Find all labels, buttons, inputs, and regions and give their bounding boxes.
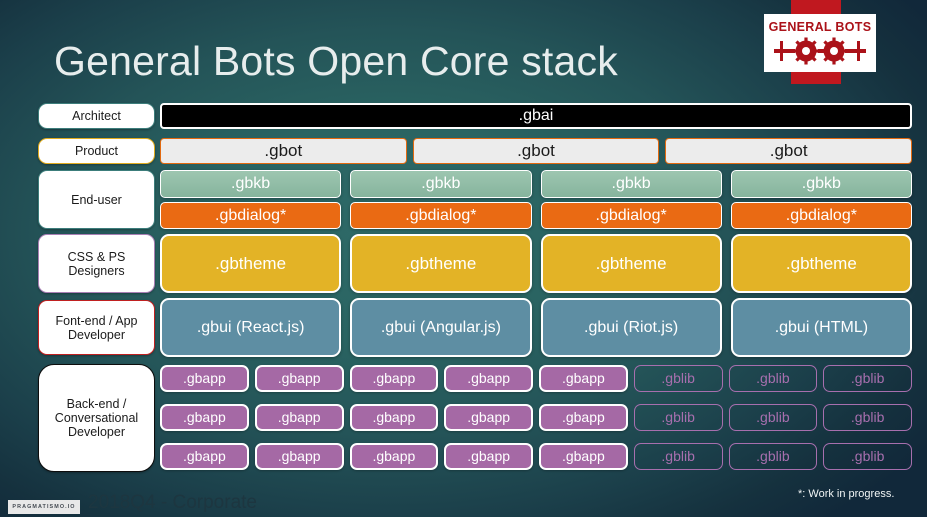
block-gbot[interactable]: .gbot xyxy=(160,138,407,164)
role-label-font-end-app-developer: Font-end / AppDeveloper xyxy=(38,300,155,355)
block-gbtheme[interactable]: .gbtheme xyxy=(160,234,341,293)
block-gbdialog[interactable]: .gbdialog* xyxy=(541,202,722,229)
role-label-css-ps-designers: CSS & PSDesigners xyxy=(38,234,155,293)
block-gbui[interactable]: .gbui (Angular.js) xyxy=(350,298,531,357)
block-gbtheme[interactable]: .gbtheme xyxy=(541,234,722,293)
block-gbui[interactable]: .gbui (React.js) xyxy=(160,298,341,357)
block-gbapp[interactable]: .gbapp xyxy=(539,443,628,470)
block-gblib[interactable]: .gblib xyxy=(823,404,912,431)
block-gbkb[interactable]: .gbkb xyxy=(731,170,912,198)
block-gblib[interactable]: .gblib xyxy=(823,443,912,470)
block-gbapp[interactable]: .gbapp xyxy=(255,443,344,470)
block-gbai[interactable]: .gbai xyxy=(160,103,912,129)
block-gbapp[interactable]: .gbapp xyxy=(255,404,344,431)
block-gbapp[interactable]: .gbapp xyxy=(350,365,439,392)
logo-card: GENERAL BOTS xyxy=(764,14,876,72)
block-gbot[interactable]: .gbot xyxy=(413,138,660,164)
block-gbapp[interactable]: .gbapp xyxy=(160,443,249,470)
pragmatismo-logo-text: PRAGMATISMO.IO xyxy=(12,504,75,510)
work-in-progress-note: *: Work in progress. xyxy=(798,488,894,500)
block-gbui[interactable]: .gbui (HTML) xyxy=(731,298,912,357)
block-gbapp[interactable]: .gbapp xyxy=(350,443,439,470)
two-gears-icon xyxy=(774,37,866,70)
block-gbapp[interactable]: .gbapp xyxy=(160,404,249,431)
logo-wordmark: GENERAL BOTS xyxy=(769,21,872,34)
block-gbapp[interactable]: .gbapp xyxy=(539,404,628,431)
role-label-architect: Architect xyxy=(38,103,155,129)
block-gbapp[interactable]: .gbapp xyxy=(444,404,533,431)
block-gblib[interactable]: .gblib xyxy=(634,404,723,431)
general-bots-logo: GENERAL BOTS xyxy=(764,0,876,90)
block-gbdialog[interactable]: .gbdialog* xyxy=(350,202,531,229)
block-gbkb[interactable]: .gbkb xyxy=(160,170,341,198)
block-gbdialog[interactable]: .gbdialog* xyxy=(731,202,912,229)
block-gbtheme[interactable]: .gbtheme xyxy=(731,234,912,293)
block-gbapp[interactable]: .gbapp xyxy=(444,443,533,470)
block-gblib[interactable]: .gblib xyxy=(634,443,723,470)
block-gblib[interactable]: .gblib xyxy=(823,365,912,392)
block-gblib[interactable]: .gblib xyxy=(634,365,723,392)
block-gbapp[interactable]: .gbapp xyxy=(539,365,628,392)
block-gblib[interactable]: .gblib xyxy=(729,443,818,470)
block-gbapp[interactable]: .gbapp xyxy=(160,365,249,392)
role-label-product: Product xyxy=(38,138,155,164)
block-gbdialog[interactable]: .gbdialog* xyxy=(160,202,341,229)
block-gblib[interactable]: .gblib xyxy=(729,365,818,392)
block-gbkb[interactable]: .gbkb xyxy=(350,170,531,198)
pragmatismo-logo: PRAGMATISMO.IO xyxy=(8,500,80,514)
role-label-end-user: End-user xyxy=(38,170,155,229)
block-gbapp[interactable]: .gbapp xyxy=(444,365,533,392)
block-gbui[interactable]: .gbui (Riot.js) xyxy=(541,298,722,357)
block-gbot[interactable]: .gbot xyxy=(665,138,912,164)
page-title: General Bots Open Core stack xyxy=(54,38,618,85)
role-label-back-end-conversational-developer: Back-end /ConversationalDeveloper xyxy=(38,364,155,472)
footer-caption: 2018Q4 - Corporate xyxy=(88,492,257,514)
block-gblib[interactable]: .gblib xyxy=(729,404,818,431)
block-gbkb[interactable]: .gbkb xyxy=(541,170,722,198)
block-gbapp[interactable]: .gbapp xyxy=(350,404,439,431)
block-gbtheme[interactable]: .gbtheme xyxy=(350,234,531,293)
slide-canvas: GENERAL BOTS xyxy=(0,0,927,517)
block-gbapp[interactable]: .gbapp xyxy=(255,365,344,392)
